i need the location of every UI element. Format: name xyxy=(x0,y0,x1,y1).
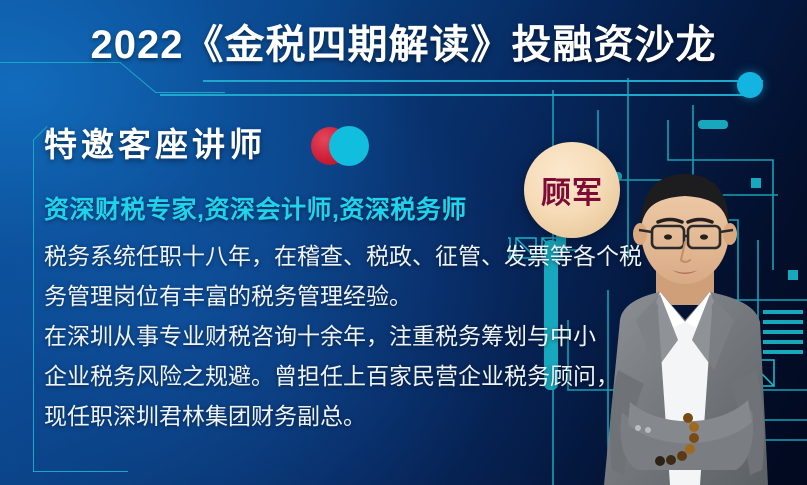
deco-line-left-vertical xyxy=(33,140,34,472)
title-end-dot xyxy=(737,72,763,98)
title-rule-lower xyxy=(160,94,750,96)
biography-line: 务管理岗位有丰富的税务管理经验。 xyxy=(44,276,584,316)
poster-canvas: 2022《金税四期解读》投融资沙龙 特邀客座讲师 资深财税专家,资深会计师,资深… xyxy=(0,0,807,485)
speaker-name: 顾军 xyxy=(541,168,603,212)
cyan-circle-icon xyxy=(329,126,369,166)
section-heading: 特邀客座讲师 xyxy=(44,118,266,166)
speaker-name-badge: 顾军 xyxy=(524,142,620,238)
page-title: 2022《金税四期解读》投融资沙龙 xyxy=(0,12,807,70)
credentials-subtitle: 资深财税专家,资深会计师,资深税务师 xyxy=(44,190,467,226)
deco-line-top-horizontal-2 xyxy=(155,92,225,93)
biography-text: 税务系统任职十八年，在稽查、税政、征管、发票等各个税 务管理岗位有丰富的税务管理… xyxy=(44,236,584,436)
title-rule-upper xyxy=(203,80,763,82)
deco-line-bottom-horizontal xyxy=(33,471,128,472)
title-bar: 2022《金税四期解读》投融资沙龙 xyxy=(0,0,807,72)
biography-line: 在深圳从事专业财税咨询十余年，注重税务筹划与中小 xyxy=(44,316,584,356)
biography-line: 企业税务风险之规避。曾担任上百家民营企业税务顾问， xyxy=(44,356,584,396)
biography-line: 税务系统任职十八年，在稽查、税政、征管、发票等各个税 xyxy=(44,236,584,276)
biography-line: 现任职深圳君林集团财务副总。 xyxy=(44,396,584,436)
